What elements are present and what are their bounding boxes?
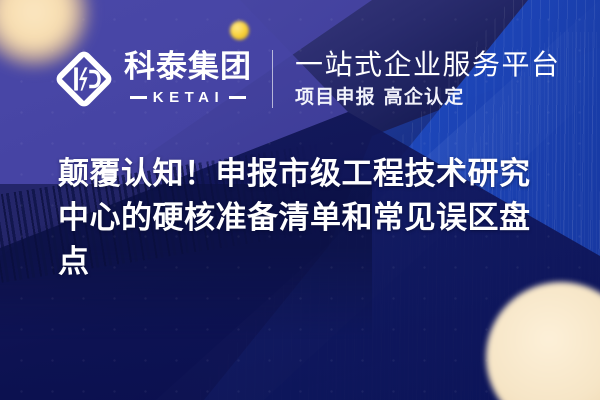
banner-image: 科泰集团 KETAI 一站式企业服务平台 项目申报 高企认定 颠覆认知！申报市级… (0, 0, 600, 400)
dash-rule-right-icon (229, 96, 246, 99)
tagline-sub: 项目申报 高企认定 (295, 87, 561, 108)
brand-logo: 科泰集团 KETAI (55, 50, 252, 108)
vertical-divider-icon (272, 50, 273, 108)
gold-dot-icon (230, 21, 249, 40)
page-title: 颠覆认知！申报市级工程技术研究中心的硬核准备清单和常见误区盘点 (58, 152, 558, 284)
brand-wordmark: 科泰集团 KETAI (124, 52, 252, 106)
brand-name-en-row: KETAI (124, 89, 252, 106)
dash-rule-left-icon (130, 96, 147, 99)
banner-header: 科泰集团 KETAI 一站式企业服务平台 项目申报 高企认定 (0, 40, 600, 118)
brand-name-en: KETAI (153, 89, 224, 106)
ketai-diamond-monogram-icon (55, 50, 113, 108)
tagline-main: 一站式企业服务平台 (295, 50, 561, 80)
tagline-block: 一站式企业服务平台 项目申报 高企认定 (295, 50, 561, 108)
brand-name-cn: 科泰集团 (124, 52, 252, 83)
